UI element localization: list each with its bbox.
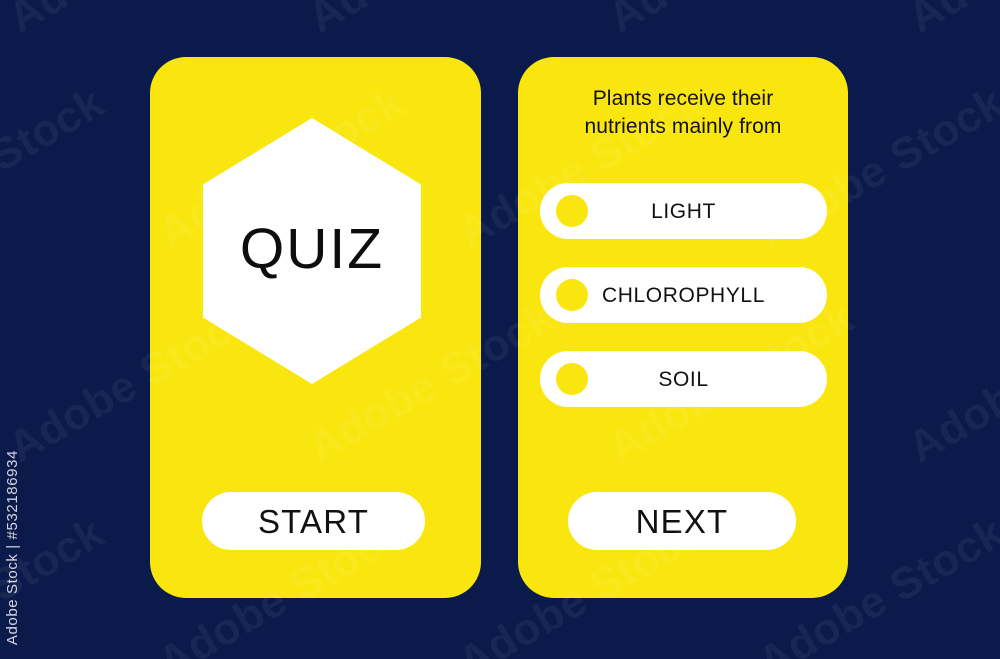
question-line-1: Plants receive their: [532, 85, 834, 113]
watermark-text: Adobe Stock: [0, 78, 113, 259]
quiz-question-card: Plants receive their nutrients mainly fr…: [518, 57, 848, 598]
start-button[interactable]: START: [202, 492, 425, 550]
watermark-text: Adobe Stock: [300, 0, 563, 43]
radio-bullet-icon: [556, 195, 588, 227]
answer-option-label: LIGHT: [651, 201, 716, 222]
next-button[interactable]: NEXT: [568, 492, 796, 550]
start-button-label: START: [258, 505, 369, 538]
answer-option-label: SOIL: [658, 369, 708, 390]
watermark-text: Adobe Stock: [600, 0, 863, 43]
watermark-text: Adobe Stock: [900, 293, 1000, 474]
question-text: Plants receive their nutrients mainly fr…: [532, 85, 834, 142]
watermark-text: Adobe Stock: [900, 0, 1000, 43]
radio-bullet-icon: [556, 279, 588, 311]
quiz-start-card: QUIZ START: [150, 57, 481, 598]
question-line-2: nutrients mainly from: [532, 113, 834, 141]
answer-option-chlorophyll[interactable]: CHLOROPHYLL: [540, 267, 827, 323]
stock-watermark-id: Adobe Stock | #532186934: [4, 450, 21, 645]
answer-option-label: CHLOROPHYLL: [602, 285, 765, 306]
quiz-badge-label: QUIZ: [240, 221, 384, 278]
watermark-text: Adobe Stock: [0, 0, 263, 43]
quiz-hexagon-badge: QUIZ: [203, 118, 421, 384]
next-button-label: NEXT: [636, 505, 729, 538]
radio-bullet-icon: [556, 363, 588, 395]
answer-options-list: LIGHT CHLOROPHYLL SOIL: [540, 183, 827, 407]
hexagon-shape: QUIZ: [203, 118, 421, 384]
quiz-template-canvas: QUIZ START Plants receive their nutrient…: [0, 0, 1000, 659]
answer-option-soil[interactable]: SOIL: [540, 351, 827, 407]
answer-option-light[interactable]: LIGHT: [540, 183, 827, 239]
